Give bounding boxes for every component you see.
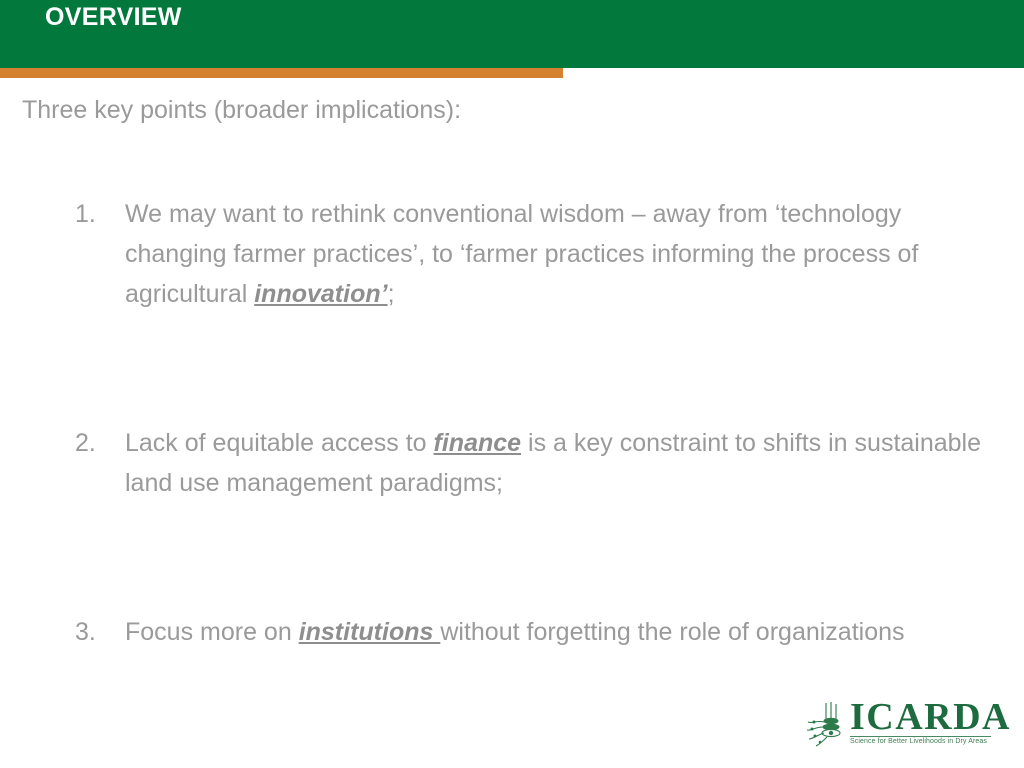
list-item-text: We may want to rethink conventional wisd… (125, 194, 1005, 314)
list-item-emphasis: institutions (299, 618, 441, 646)
list-item-text: Lack of equitable access to finance is a… (125, 423, 1005, 503)
logo-divider (850, 736, 991, 737)
slide-body: Three key points (broader implications):… (0, 78, 1024, 768)
list-item-text-before: Focus more on (125, 618, 299, 646)
list-item-number: 2. (75, 423, 125, 463)
list-item-text-after: ; (388, 280, 395, 308)
slide-header-band: OVERVIEW (0, 0, 1024, 68)
list-item: 2. Lack of equitable access to finance i… (75, 423, 1005, 503)
list-item-text-before: Lack of equitable access to (125, 429, 434, 457)
icarda-logo: ICARDA Science for Better Livelihoods in… (806, 698, 996, 756)
header-accent-bar (0, 68, 563, 78)
list-item: 3. Focus more on institutions without fo… (75, 612, 1005, 652)
wheat-sheaf-emblem-icon (806, 700, 852, 750)
list-item-text-before: We may want to rethink conventional wisd… (125, 200, 918, 308)
list-item-emphasis: innovation’ (254, 280, 387, 308)
intro-text: Three key points (broader implications): (22, 96, 461, 125)
page-title: OVERVIEW (45, 3, 182, 32)
logo-wordmark: ICARDA (850, 696, 1011, 738)
list-item-emphasis: finance (434, 429, 522, 457)
list-item-number: 1. (75, 194, 125, 234)
list-item-text-after: without forgetting the role of organizat… (440, 618, 904, 646)
logo-tagline: Science for Better Livelihoods in Dry Ar… (850, 738, 987, 745)
list-item-text: Focus more on institutions without forge… (125, 612, 1005, 652)
list-item: 1. We may want to rethink conventional w… (75, 194, 1005, 314)
list-item-number: 3. (75, 612, 125, 652)
